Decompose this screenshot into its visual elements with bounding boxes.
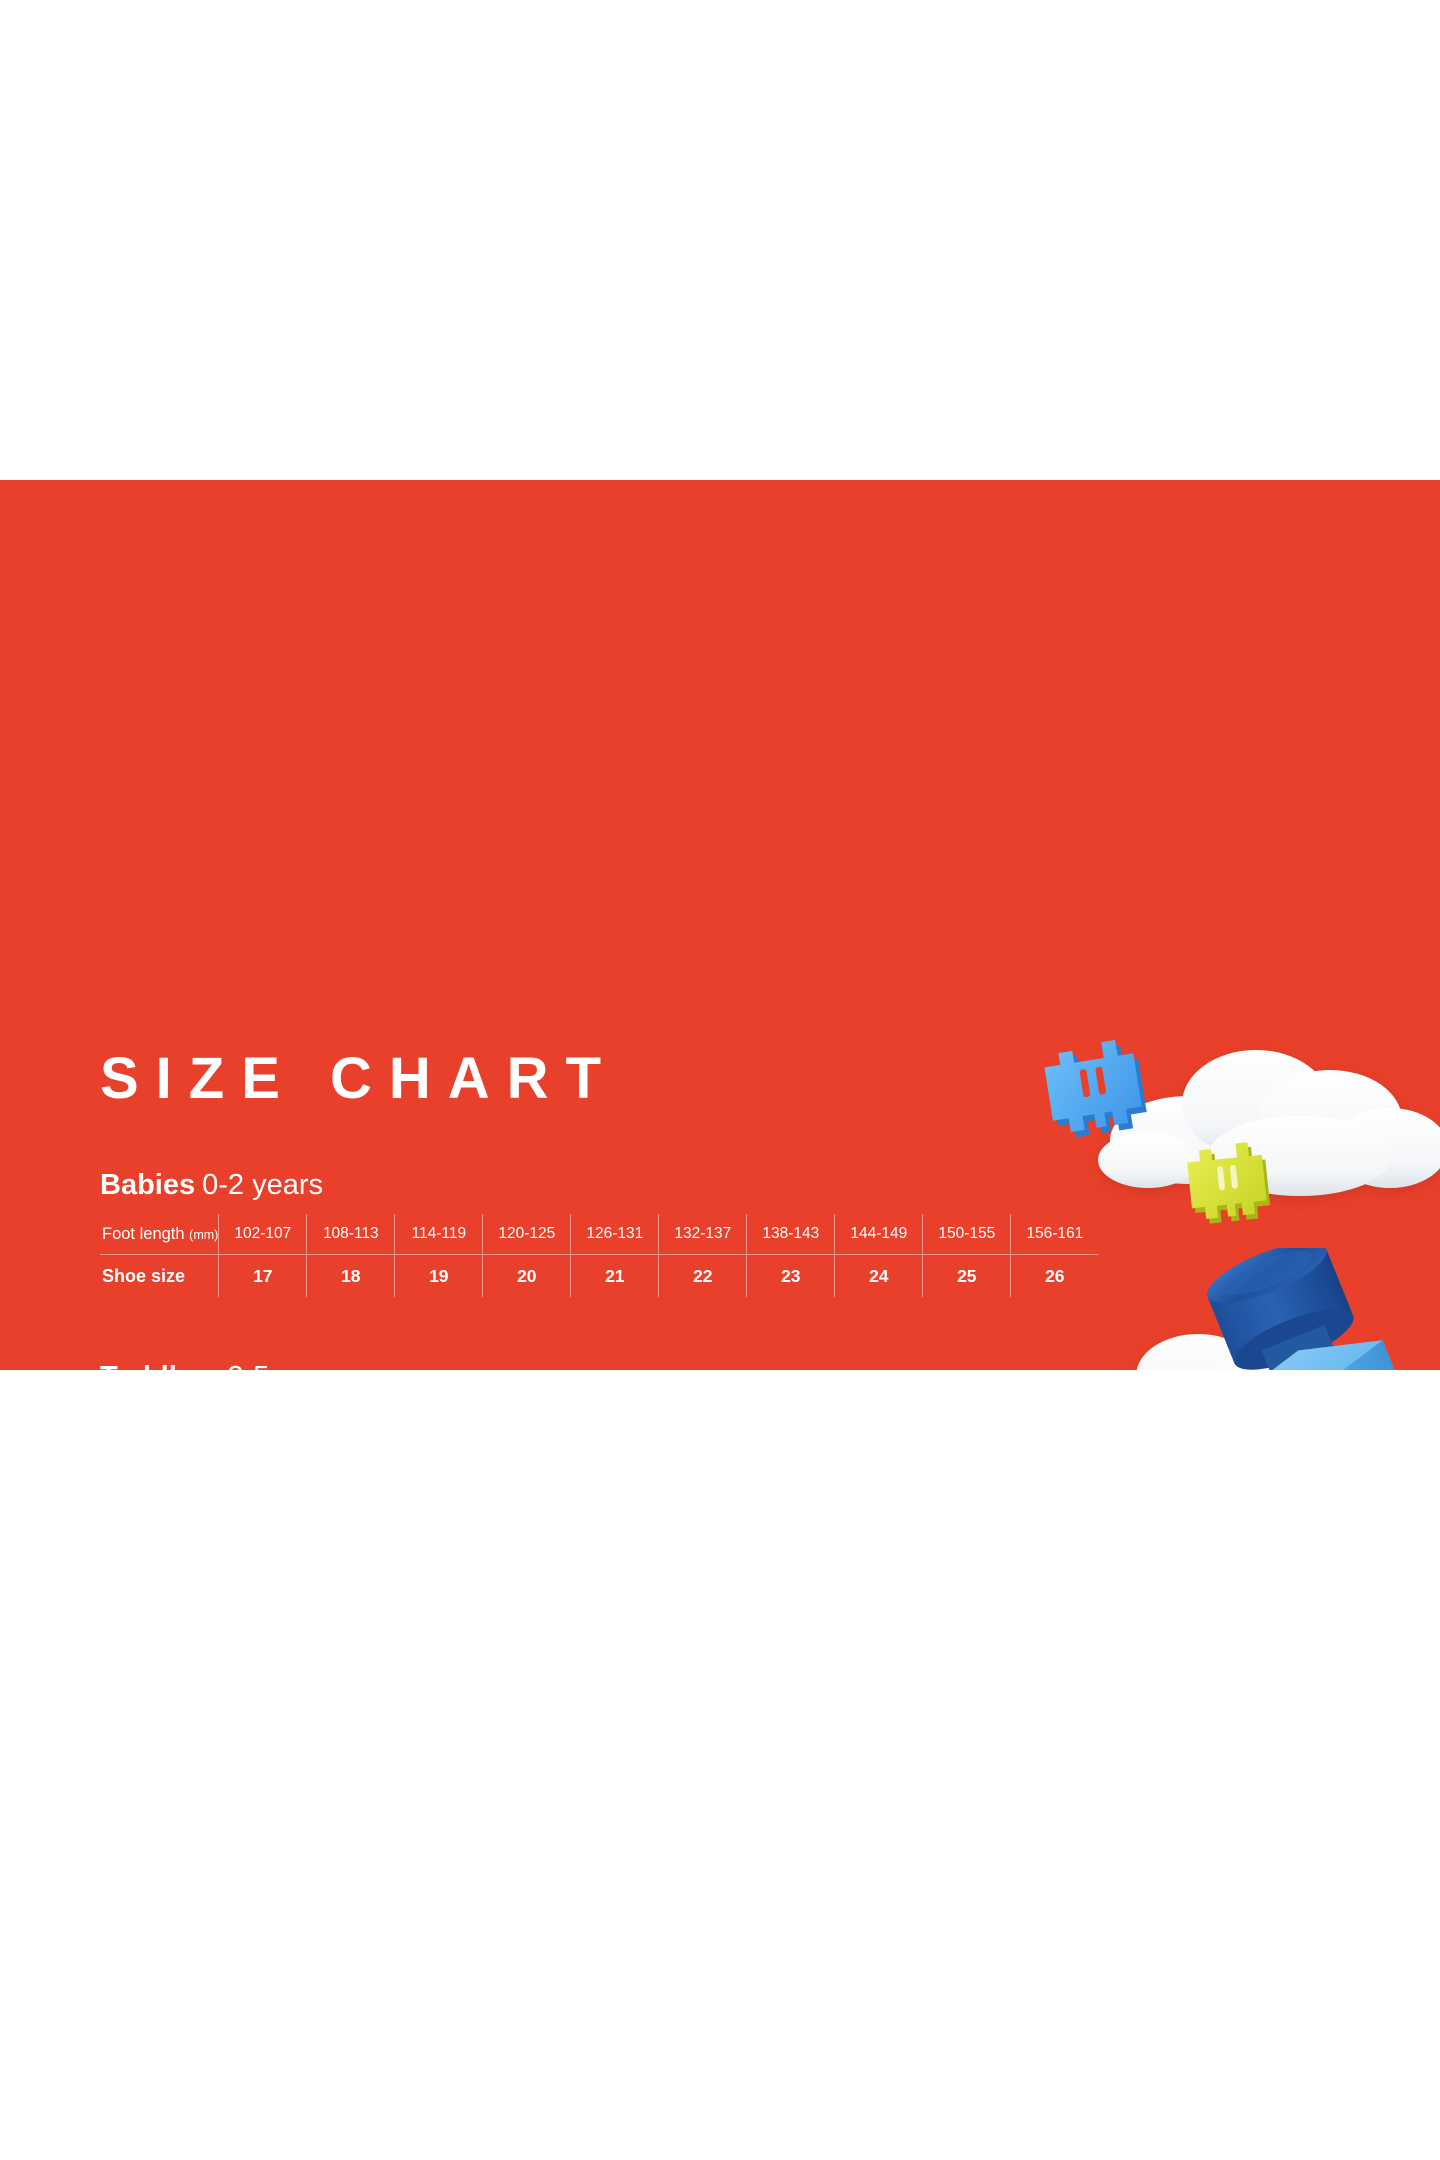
table-cell-foot-length: 156-161 [1011, 1214, 1099, 1255]
table-row-foot-length: Foot length (mm) 102-107 108-113 114-119… [100, 1214, 1098, 1255]
section-toddlers: Toddlers2-5 years Foot length (mm) 162-1… [100, 1362, 1010, 1370]
table-cell-foot-length: 150-155 [923, 1214, 1011, 1255]
cloud-icon [1078, 1032, 1440, 1200]
page-title: SIZE CHART [100, 1050, 618, 1108]
section-babies: Babies0-2 years Foot length (mm) 102-107… [100, 1170, 1098, 1297]
table-cell-shoe-size: 20 [483, 1255, 571, 1298]
table-cell-shoe-size: 17 [219, 1255, 307, 1298]
cube-with-cap-icon [1180, 1248, 1440, 1370]
row-label-shoe-size: Shoe size [100, 1255, 219, 1298]
table-cell-foot-length: 108-113 [307, 1214, 395, 1255]
table-cell-shoe-size: 23 [747, 1255, 835, 1298]
section-heading-toddlers: Toddlers2-5 years [100, 1362, 1010, 1370]
row-label-foot-length: Foot length (mm) [100, 1214, 219, 1255]
section-group-name: Babies [100, 1169, 195, 1201]
table-cell-foot-length: 132-137 [659, 1214, 747, 1255]
table-cell-shoe-size: 19 [395, 1255, 483, 1298]
size-chart-page: SIZE CHART Babies0-2 years Foot length (… [0, 0, 1440, 2160]
table-cell-foot-length: 120-125 [483, 1214, 571, 1255]
table-cell-foot-length: 114-119 [395, 1214, 483, 1255]
table-cell-foot-length: 144-149 [835, 1214, 923, 1255]
table-cell-shoe-size: 21 [571, 1255, 659, 1298]
section-age-range: 2-5 years [227, 1361, 348, 1370]
table-cell-shoe-size: 18 [307, 1255, 395, 1298]
table-cell-shoe-size: 24 [835, 1255, 923, 1298]
row-label-foot-length-unit: (mm) [189, 1228, 218, 1242]
table-row-shoe-size: Shoe size 17 18 19 20 21 22 23 24 25 26 [100, 1255, 1098, 1298]
size-table-babies: Foot length (mm) 102-107 108-113 114-119… [100, 1214, 1098, 1297]
pixel-invader-blue-icon [1035, 1025, 1165, 1160]
table-cell-shoe-size: 26 [1011, 1255, 1099, 1298]
section-age-range: 0-2 years [202, 1169, 323, 1201]
row-label-foot-length-text: Foot length [102, 1225, 185, 1243]
section-heading-babies: Babies0-2 years [100, 1170, 1098, 1200]
pixel-invader-yellow-icon [1178, 1128, 1288, 1246]
table-cell-foot-length: 102-107 [219, 1214, 307, 1255]
section-group-name: Toddlers [100, 1361, 220, 1370]
table-cell-shoe-size: 25 [923, 1255, 1011, 1298]
table-cell-shoe-size: 22 [659, 1255, 747, 1298]
table-cell-foot-length: 126-131 [571, 1214, 659, 1255]
table-cell-foot-length: 138-143 [747, 1214, 835, 1255]
cloud-icon [1080, 1310, 1380, 1370]
size-chart-panel: SIZE CHART Babies0-2 years Foot length (… [0, 480, 1440, 1370]
